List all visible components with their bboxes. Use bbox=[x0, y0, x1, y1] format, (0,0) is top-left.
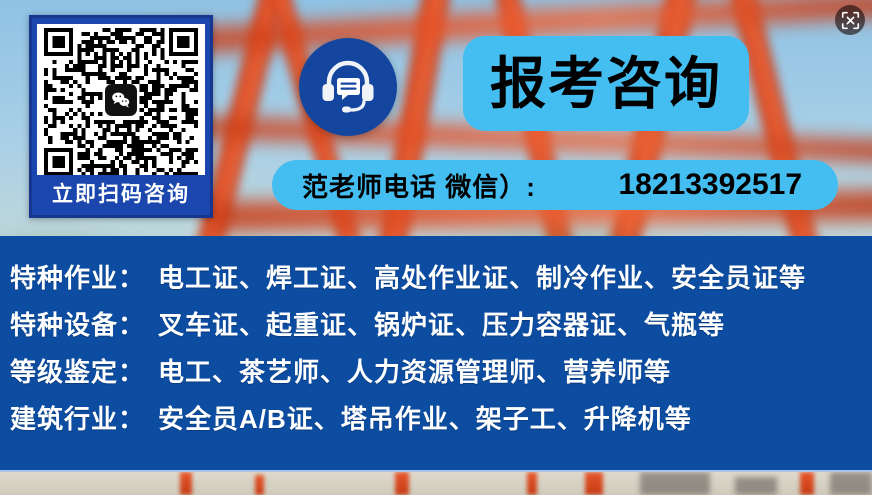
page-title: 报考咨询 bbox=[490, 56, 722, 112]
category-row: 特种作业： 电工证、焊工证、高处作业证、制冷作业、安全员证等 bbox=[10, 258, 872, 305]
contact-phone-pill[interactable]: 范老师电话 微信）: 18213392517 bbox=[272, 160, 838, 210]
category-label: 等级鉴定： bbox=[10, 352, 158, 389]
category-label: 特种设备： bbox=[10, 305, 158, 342]
category-value: 电工、茶艺师、人力资源管理师、营养师等 bbox=[158, 352, 671, 389]
strip-post bbox=[180, 472, 192, 495]
strip-shadow bbox=[640, 472, 710, 495]
category-value: 安全员A/B证、塔吊作业、架子工、升降机等 bbox=[158, 399, 692, 436]
contact-phone-number[interactable]: 18213392517 bbox=[618, 168, 816, 202]
strip-post bbox=[800, 472, 814, 495]
strip-shadow bbox=[830, 472, 872, 495]
category-value: 叉车证、起重证、锅炉证、压力容器证、气瓶等 bbox=[158, 305, 725, 342]
category-row: 特种设备： 叉车证、起重证、锅炉证、压力容器证、气瓶等 bbox=[10, 305, 872, 352]
strip-post bbox=[585, 472, 603, 495]
bottom-photo-strip bbox=[0, 472, 872, 495]
category-label: 建筑行业： bbox=[10, 399, 158, 436]
category-label: 特种作业： bbox=[10, 258, 158, 295]
scan-expand-icon[interactable] bbox=[835, 5, 865, 35]
headset-chat-icon bbox=[299, 38, 397, 136]
qr-card[interactable]: 立即扫码咨询 bbox=[29, 15, 213, 218]
category-row: 建筑行业： 安全员A/B证、塔吊作业、架子工、升降机等 bbox=[10, 399, 872, 446]
qr-card-caption: 立即扫码咨询 bbox=[38, 175, 204, 215]
strip-shadow bbox=[735, 477, 777, 495]
category-row: 等级鉴定： 电工、茶艺师、人力资源管理师、营养师等 bbox=[10, 352, 872, 399]
promotional-banner: 立即扫码咨询 报考咨询 范老师电话 微信）: 18213392517 bbox=[0, 0, 872, 495]
qr-code-image[interactable] bbox=[37, 24, 205, 175]
category-value: 电工证、焊工证、高处作业证、制冷作业、安全员证等 bbox=[158, 258, 806, 295]
strip-post bbox=[255, 475, 264, 495]
contact-label: 范老师电话 微信）: bbox=[302, 167, 536, 204]
strip-post bbox=[395, 472, 409, 495]
wechat-icon bbox=[105, 84, 137, 116]
course-category-panel: 特种作业： 电工证、焊工证、高处作业证、制冷作业、安全员证等 特种设备： 叉车证… bbox=[0, 236, 872, 472]
title-pill: 报考咨询 bbox=[463, 36, 749, 131]
strip-post bbox=[527, 472, 537, 495]
